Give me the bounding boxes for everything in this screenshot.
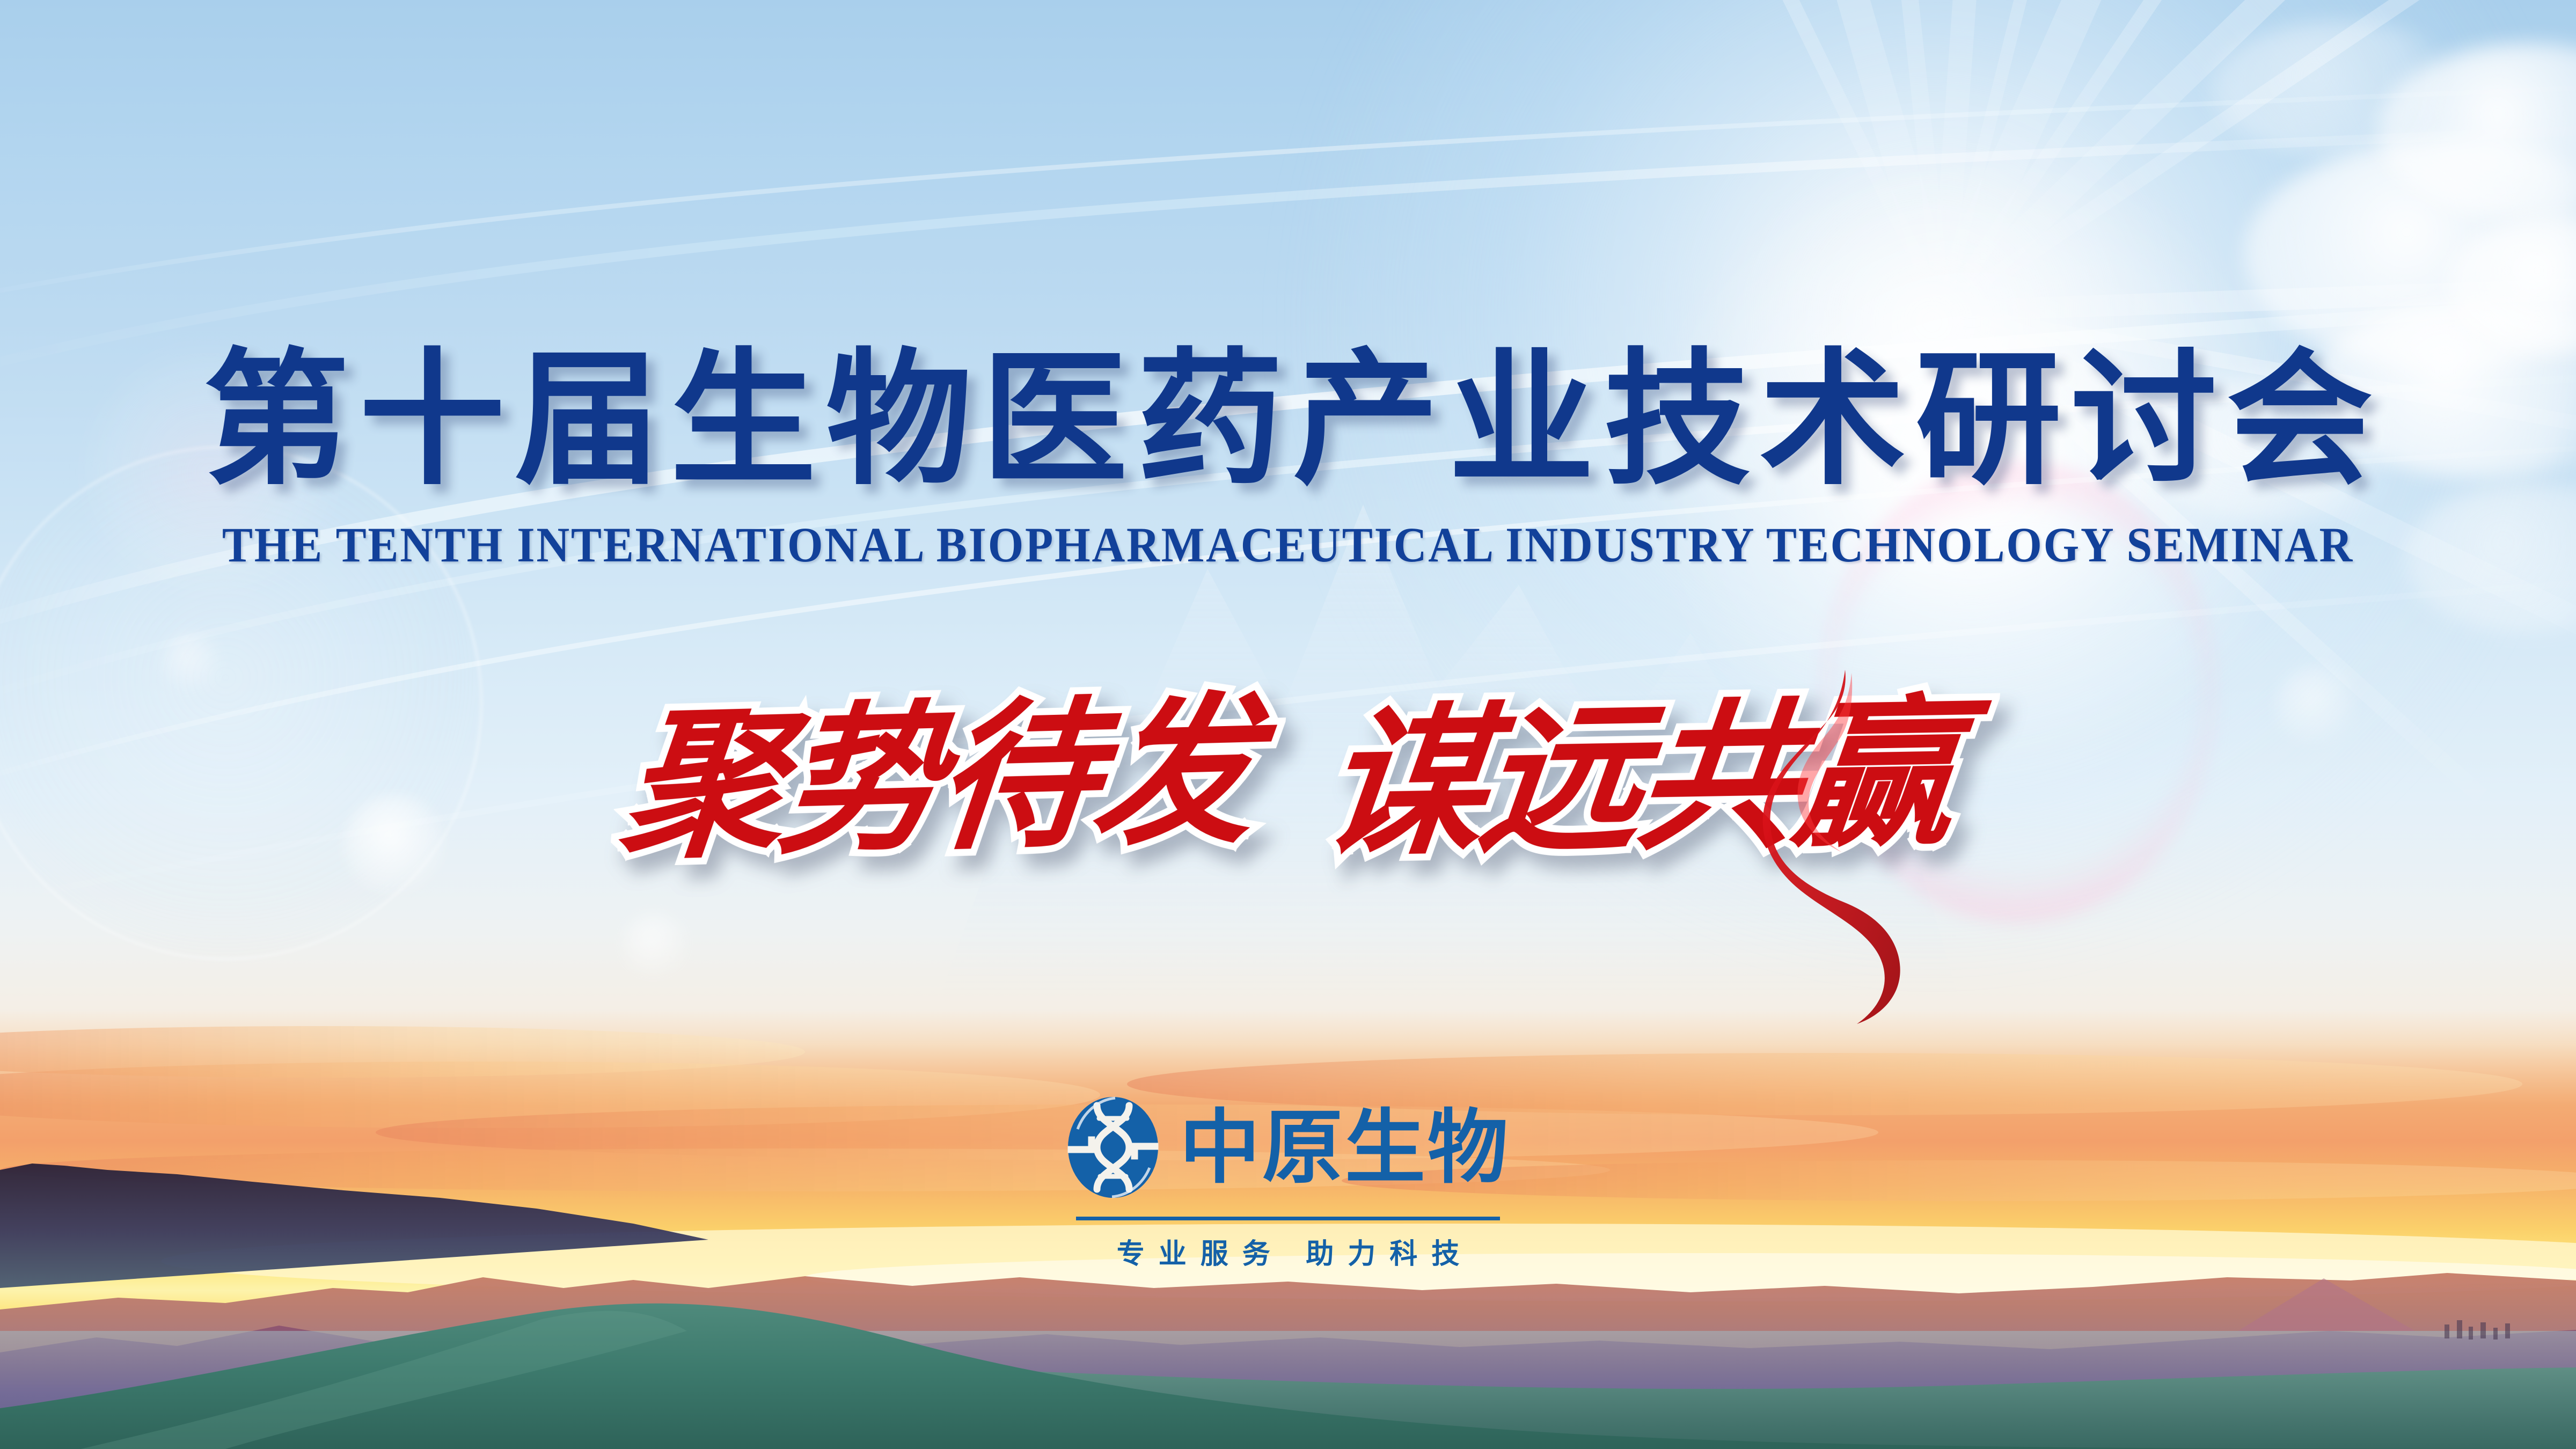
logo-tagline: 专业服务 助力科技 xyxy=(0,1231,2576,1271)
logo-row: 中原生物 xyxy=(1066,1095,1510,1200)
poster-stage: 第十届生物医药产业技术研讨会 THE TENTH INTERNATIONAL B… xyxy=(0,0,2576,1449)
page-subtitle: THE TENTH INTERNATIONAL BIOPHARMACEUTICA… xyxy=(90,516,2486,573)
page-title: 第十届生物医药产业技术研讨会 xyxy=(0,343,2576,497)
logo-company-name: 中原生物 xyxy=(1180,1107,1510,1188)
slogan-calligraphy: 聚势待发 谋远共赢 xyxy=(0,698,2576,859)
dna-helix-emblem-icon xyxy=(1066,1095,1160,1200)
company-logo: 中原生物 专业服务 助力科技 xyxy=(0,1095,2576,1271)
red-ribbon-flourish xyxy=(1674,660,1975,1036)
logo-divider xyxy=(1076,1217,1500,1220)
title-block: 第十届生物医药产业技术研讨会 THE TENTH INTERNATIONAL B… xyxy=(0,343,2576,573)
slogan-phrase-1: 聚势待发 xyxy=(615,690,1259,867)
